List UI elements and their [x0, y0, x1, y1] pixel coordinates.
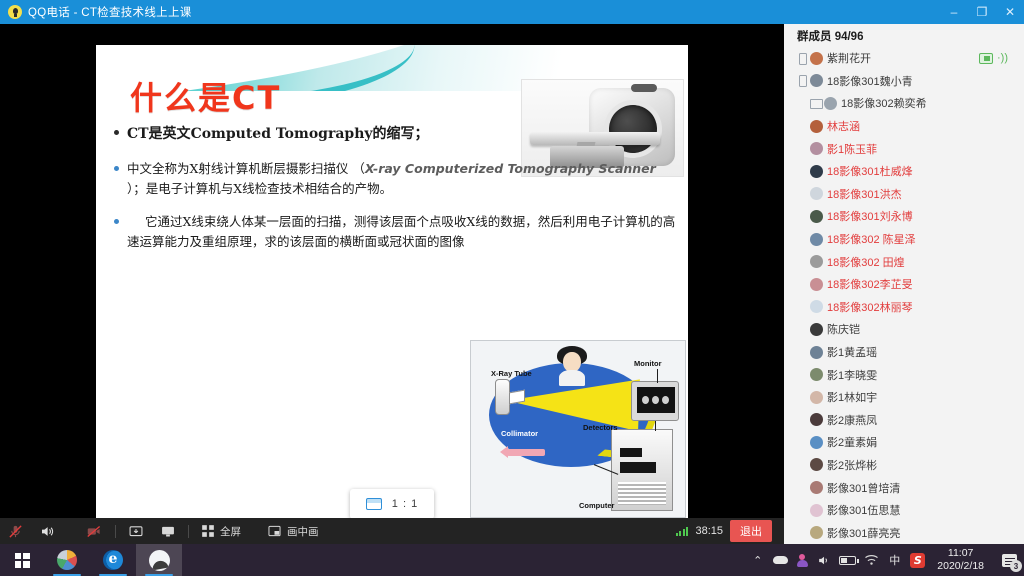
- avatar: [810, 323, 823, 336]
- member-name: 18影像302 陈星泽: [827, 231, 916, 247]
- microphone-muted-icon: [8, 524, 23, 539]
- sharing-screen-icon: [979, 53, 993, 64]
- patient-body: [559, 370, 585, 386]
- member-row[interactable]: 影2童素娟: [784, 431, 1024, 454]
- signal-bars-icon: [676, 526, 689, 536]
- share-screen-button[interactable]: [120, 518, 152, 544]
- computer-slot-b: [620, 462, 656, 473]
- notification-badge: 3: [1010, 560, 1022, 572]
- onedrive-cloud-icon[interactable]: [773, 556, 788, 564]
- avatar: [810, 436, 823, 449]
- member-row[interactable]: 影像301曾培清: [784, 476, 1024, 499]
- member-row[interactable]: 影1李晓雯: [784, 363, 1024, 386]
- divider: [188, 525, 189, 538]
- member-row[interactable]: 影2康燕凤: [784, 409, 1024, 432]
- avatar: [810, 526, 823, 539]
- member-row[interactable]: 18影像302林丽琴: [784, 296, 1024, 319]
- avatar: [810, 120, 823, 133]
- avatar: [810, 74, 823, 87]
- restore-button[interactable]: ❐: [968, 0, 996, 24]
- call-control-bar: 全屏 画中画 38:15 退出: [0, 518, 784, 544]
- diagram-label-monitor: Monitor: [634, 359, 662, 368]
- minimize-button[interactable]: –: [940, 0, 968, 24]
- ime-mode-icon[interactable]: 中: [887, 552, 902, 568]
- member-row[interactable]: 紫荆花开·)): [784, 47, 1024, 70]
- presentation-slide: 什么是CT CT是英文Computed Tomography的缩写；: [96, 45, 688, 518]
- mic-muted-button[interactable]: [0, 518, 31, 544]
- member-name: 18影像302李芷旻: [827, 276, 913, 292]
- member-name: 陈庆铠: [827, 321, 860, 337]
- qq-icon: [149, 550, 170, 571]
- slide-bullet-list: CT是英文Computed Tomography的缩写； 中文全称为X射线计算机…: [108, 123, 676, 266]
- member-row[interactable]: 18影像301杜威烽: [784, 160, 1024, 183]
- diagram-label-collimator: Collimator: [501, 429, 538, 438]
- windows-start-icon[interactable]: [0, 544, 44, 576]
- volume-icon[interactable]: [816, 552, 831, 568]
- bullet-definition-emphasis: Computed Tomography: [191, 126, 373, 142]
- bullet-principle: 它通过X线束绕人体某一层面的扫描，测得该层面个点吸收X线的数据，然后利用电子计算…: [108, 212, 676, 253]
- zoom-ratio-chip[interactable]: 1 : 1: [350, 489, 434, 518]
- monitor-icon: [160, 524, 176, 539]
- fullscreen-icon: [201, 524, 215, 538]
- bullet-definition: CT是英文Computed Tomography的缩写；: [108, 123, 676, 146]
- member-panel: 群成员 94/96 紫荆花开·))18影像301魏小青18影像302赖奕希林志涵…: [784, 24, 1024, 544]
- screen-fit-icon: [366, 498, 382, 510]
- member-row[interactable]: 影像301薛亮亮: [784, 521, 1024, 544]
- people-icon[interactable]: [796, 554, 808, 567]
- display-button[interactable]: [152, 518, 184, 544]
- member-name: 18影像302林丽琴: [827, 299, 913, 315]
- avatar: [810, 346, 823, 359]
- diagram-label-detectors: Detectors: [583, 423, 618, 432]
- member-row[interactable]: 18影像301魏小青: [784, 70, 1024, 93]
- avatar: [810, 142, 823, 155]
- title-bar: QQ电话 - CT检查技术线上上课 – ❐ ✕: [0, 0, 1024, 24]
- member-name: 影2康燕凤: [827, 412, 877, 428]
- fullscreen-button[interactable]: 全屏: [193, 518, 249, 544]
- avatar: [810, 458, 823, 471]
- avatar: [810, 300, 823, 313]
- sogou-input-icon[interactable]: S: [910, 553, 925, 568]
- member-name: 18影像301洪杰: [827, 186, 902, 202]
- speaking-wave-icon: ·)): [997, 53, 1008, 64]
- speaker-button[interactable]: [31, 518, 63, 544]
- device-phone-icon: [796, 75, 807, 86]
- member-name: 紫荆花开: [827, 50, 871, 66]
- computer-slot-a: [620, 448, 642, 457]
- tray-chevron-up-icon[interactable]: ⌃: [750, 552, 765, 568]
- share-screen-icon: [128, 524, 144, 539]
- avatar: [810, 52, 823, 65]
- clock-date: 2020/2/18: [937, 560, 984, 573]
- bullet-fullname: 中文全称为X射线计算机断层摄影扫描仪 （X-ray Computerized T…: [108, 159, 676, 200]
- avatar: [810, 413, 823, 426]
- bullet-fullname-tail: ）；是电子计算机与X线检查技术相结合的产物。: [127, 181, 392, 196]
- member-name: 18影像301刘永博: [827, 208, 913, 224]
- member-name: 林志涵: [827, 118, 860, 134]
- avatar: [824, 97, 837, 110]
- member-name: 影2张烨彬: [827, 457, 877, 473]
- close-button[interactable]: ✕: [996, 0, 1024, 24]
- member-name: 影2童素娟: [827, 434, 877, 450]
- wifi-icon[interactable]: [864, 552, 879, 568]
- diagram-connector-monitor: [655, 421, 656, 431]
- member-name: 影像301薛亮亮: [827, 525, 900, 541]
- bullet-fullname-emphasis: X-ray Computerized Tomography Scanner: [365, 161, 656, 176]
- bullet-dot-icon: [114, 219, 119, 224]
- zoom-ratio-label: 1 : 1: [392, 498, 418, 510]
- pip-label: 画中画: [287, 524, 319, 539]
- member-panel-header: 群成员 94/96: [784, 24, 1024, 47]
- member-row[interactable]: 18影像302 陈星泽: [784, 228, 1024, 251]
- avatar: [810, 504, 823, 517]
- member-row[interactable]: 18影像302 田煌: [784, 250, 1024, 273]
- bullet-definition-lead: CT是英文: [127, 126, 191, 142]
- slide-title: 什么是CT: [130, 73, 281, 119]
- bullet-dot-icon: [114, 130, 119, 135]
- member-name: 影1李晓雯: [827, 367, 877, 383]
- system-tray: ⌃ 中 S 11:07 2020/2/18: [750, 547, 994, 573]
- diagram-label-computer: Computer: [579, 501, 614, 510]
- exit-button[interactable]: 退出: [730, 520, 772, 542]
- member-name: 18影像301魏小青: [827, 73, 913, 89]
- diagram-connector-monitor-label: [657, 369, 658, 383]
- avatar: [810, 481, 823, 494]
- member-name: 影像301曾培清: [827, 480, 900, 496]
- member-name: 18影像302 田煌: [827, 254, 905, 270]
- bullet-principle-text: 它通过X线束绕人体某一层面的扫描，测得该层面个点吸收X线的数据，然后利用电子计算…: [127, 212, 676, 253]
- camera-muted-button[interactable]: [63, 518, 111, 544]
- ct-principle-diagram: X-Ray Tube Collimator Detectors Monitor …: [470, 340, 686, 518]
- avatar: [810, 391, 823, 404]
- camera-muted-icon: [85, 524, 103, 539]
- member-row[interactable]: 18影像302李芷旻: [784, 273, 1024, 296]
- diagram-direction-arrow-icon: [507, 449, 545, 456]
- device-phone-icon: [796, 53, 807, 64]
- diagram-monitor: [631, 381, 679, 421]
- globe-icon: [57, 550, 77, 570]
- member-row[interactable]: 影1黄孟瑶: [784, 341, 1024, 364]
- avatar: [810, 187, 823, 200]
- avatar: [810, 368, 823, 381]
- bullet-dot-icon: [114, 166, 119, 171]
- member-row[interactable]: 影1陈玉菲: [784, 137, 1024, 160]
- avatar: [810, 165, 823, 178]
- member-name: 影1陈玉菲: [827, 141, 877, 157]
- diagram-monitor-screen: [637, 387, 675, 413]
- member-row[interactable]: 18影像302赖奕希: [784, 92, 1024, 115]
- computer-vents: [618, 482, 666, 505]
- member-row[interactable]: 林志涵: [784, 115, 1024, 138]
- battery-icon[interactable]: [839, 556, 856, 565]
- avatar: [810, 210, 823, 223]
- speaker-icon: [39, 524, 55, 539]
- diagram-label-tube: X-Ray Tube: [491, 369, 532, 378]
- diagram-xray-tube: [495, 379, 510, 415]
- member-status-flags: ·)): [979, 53, 1008, 64]
- member-name: 影1林如宇: [827, 389, 877, 405]
- device-pc-icon: [810, 98, 821, 109]
- member-name: 18影像301杜威烽: [827, 163, 913, 179]
- share-stage: 正在分享屏幕 00:38:59 18影像30...等XX人正在观看 什么是CT: [0, 24, 784, 518]
- member-row[interactable]: 影2张烨彬: [784, 454, 1024, 477]
- window-controls: – ❐ ✕: [940, 0, 1024, 24]
- member-row[interactable]: 陈庆铠: [784, 318, 1024, 341]
- avatar: [810, 278, 823, 291]
- fullscreen-label: 全屏: [220, 524, 241, 539]
- pip-button[interactable]: 画中画: [259, 518, 327, 544]
- member-row[interactable]: 18影像301洪杰: [784, 183, 1024, 206]
- diagram-patient: [557, 346, 587, 380]
- windows-taskbar: ⌃ 中 S 11:07 2020/2/18: [0, 544, 1024, 576]
- member-name: 影1黄孟瑶: [827, 344, 877, 360]
- taskbar-app-browser[interactable]: [44, 544, 90, 576]
- patient-face: [563, 352, 581, 372]
- member-row[interactable]: 影1林如宇: [784, 386, 1024, 409]
- member-list[interactable]: 紫荆花开·))18影像301魏小青18影像302赖奕希林志涵影1陈玉菲18影像3…: [784, 47, 1024, 544]
- member-row[interactable]: 18影像301刘永博: [784, 205, 1024, 228]
- clock-time: 11:07: [937, 547, 984, 560]
- avatar: [810, 233, 823, 246]
- qq-meeting-window: QQ电话 - CT检查技术线上上课 – ❐ ✕ 正在分享屏幕 00:38:59 …: [0, 0, 1024, 576]
- qq-bulb-icon: [8, 5, 22, 19]
- member-name: 影像301伍思慧: [827, 502, 900, 518]
- diagram-computer: [611, 429, 673, 511]
- taskbar-app-edge[interactable]: [90, 544, 136, 576]
- call-timer: 38:15: [695, 525, 723, 537]
- ct-gantry-top: [631, 84, 657, 92]
- taskbar-clock[interactable]: 11:07 2020/2/18: [933, 547, 988, 573]
- notification-center-button[interactable]: 3: [994, 544, 1024, 576]
- window-title: QQ电话 - CT检查技术线上上课: [28, 4, 192, 20]
- avatar: [810, 255, 823, 268]
- edge-icon: [103, 550, 123, 570]
- bullet-fullname-lead: 中文全称为X射线计算机断层摄影扫描仪 （: [127, 161, 365, 176]
- taskbar-app-qq[interactable]: [136, 544, 182, 576]
- bullet-definition-tail: 的缩写；: [373, 126, 429, 142]
- member-row[interactable]: 影像301伍思慧: [784, 499, 1024, 522]
- picture-in-picture-icon: [267, 524, 282, 538]
- call-status-group: 38:15 退出: [676, 520, 784, 542]
- member-name: 18影像302赖奕希: [841, 95, 927, 111]
- divider: [115, 525, 116, 538]
